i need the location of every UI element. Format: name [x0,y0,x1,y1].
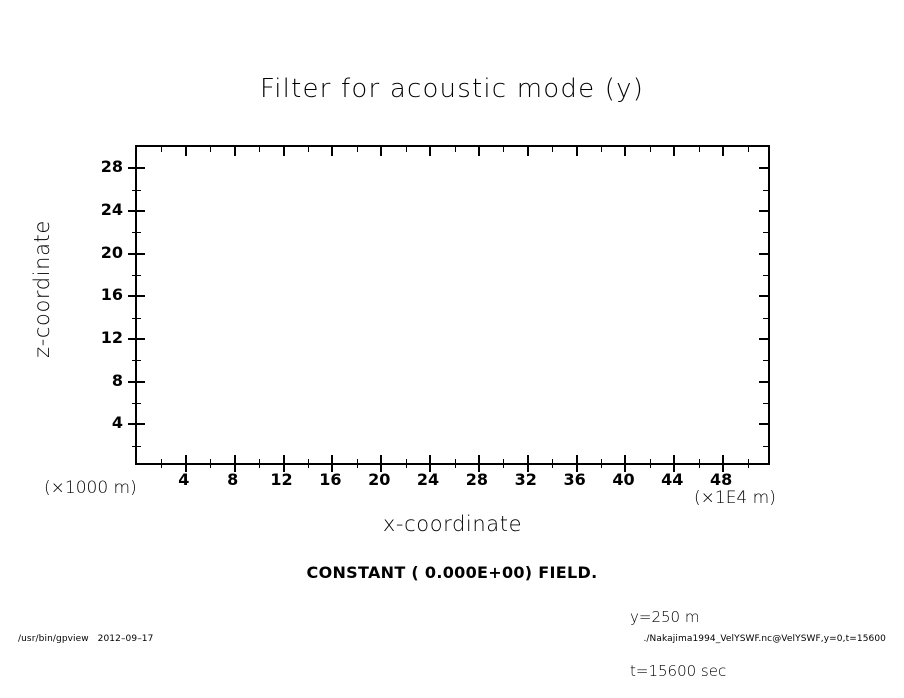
x-axis-minor-tick-inner [161,459,162,463]
x-axis-title: x-coordinate [135,512,770,536]
x-axis-top-minor-tick [601,147,602,152]
x-axis-tick-label: 36 [555,470,595,489]
x-axis-minor-tick-inner [259,459,260,463]
y-axis-major-tick [128,338,137,340]
x-axis-tick-label: 4 [164,470,204,489]
x-axis-major-tick-inner [331,455,333,463]
x-axis-minor-tick [161,463,162,468]
y-axis-minor-tick-inner [137,403,141,404]
x-axis-major-tick-inner [380,455,382,463]
x-axis-major-tick-inner [527,455,529,463]
x-axis-top-major-tick [673,147,675,156]
y-axis-major-tick [128,295,137,297]
x-axis-top-minor-tick [650,147,651,152]
y-axis-major-tick [128,423,137,425]
x-axis-top-minor-tick [699,147,700,152]
x-axis-minor-tick [699,463,700,468]
y-axis-tick-label: 16 [83,285,123,304]
x-axis-major-tick-inner [576,455,578,463]
x-axis-tick-label: 12 [262,470,302,489]
x-axis-minor-tick [650,463,651,468]
x-axis-top-minor-tick [406,147,407,152]
x-axis-top-major-tick [478,147,480,156]
x-axis-top-minor-tick [357,147,358,152]
y-axis-tick-label: 28 [83,157,123,176]
x-axis-minor-tick [552,463,553,468]
x-axis-minor-tick-inner [406,459,407,463]
x-axis-top-minor-tick [308,147,309,152]
y-axis-minor-tick-inner [137,275,141,276]
x-axis-major-tick-inner [673,455,675,463]
x-axis-top-major-tick [527,147,529,156]
x-axis-minor-tick-inner [552,459,553,463]
y-axis-right-minor-tick [763,190,768,191]
y-axis-right-minor-tick [763,232,768,233]
y-axis-major-tick-inner [137,423,145,425]
x-axis-minor-tick [601,463,602,468]
x-axis-tick-label: 48 [701,470,741,489]
x-axis-minor-tick [455,463,456,468]
x-axis-major-tick-inner [722,455,724,463]
x-axis-tick-label: 28 [457,470,497,489]
x-axis-minor-tick [308,463,309,468]
slice-y-label: y=250 m [630,608,726,626]
y-axis-tick-label: 12 [83,328,123,347]
x-axis-minor-tick [748,463,749,468]
x-axis-major-tick-inner [624,455,626,463]
y-axis-right-minor-tick [763,318,768,319]
y-axis-right-minor-tick [763,446,768,447]
plot-area [135,145,770,465]
x-axis-tick-label: 8 [213,470,253,489]
y-axis-major-tick [128,210,137,212]
x-axis-tick-label: 16 [310,470,350,489]
y-axis-major-tick [128,167,137,169]
x-axis-minor-tick-inner [503,459,504,463]
x-axis-minor-tick [259,463,260,468]
x-axis-tick-label: 32 [506,470,546,489]
y-axis-major-tick-inner [137,338,145,340]
x-axis-major-tick-inner [185,455,187,463]
x-axis-minor-tick-inner [210,459,211,463]
y-axis-major-tick [128,253,137,255]
x-axis-tick-label: 40 [603,470,643,489]
x-axis-minor-tick-inner [601,459,602,463]
x-axis-top-major-tick [624,147,626,156]
y-axis-right-major-tick [759,338,768,340]
y-axis-major-tick-inner [137,381,145,383]
y-axis-tick-label: 24 [83,200,123,219]
y-axis-right-major-tick [759,423,768,425]
y-axis-unit-label: (×1000 m) [44,478,137,498]
page-title: Filter for acoustic mode (y) [0,74,904,104]
y-axis-minor-tick-inner [137,232,141,233]
y-axis-minor-tick-inner [137,190,141,191]
x-axis-minor-tick-inner [748,459,749,463]
x-axis-top-major-tick [331,147,333,156]
y-axis-minor-tick-inner [137,360,141,361]
x-axis-tick-label: 24 [408,470,448,489]
x-axis-minor-tick [406,463,407,468]
y-axis-right-major-tick [759,210,768,212]
x-axis-top-major-tick [185,147,187,156]
x-axis-major-tick-inner [283,455,285,463]
x-axis-tick-label: 44 [652,470,692,489]
y-axis-major-tick-inner [137,210,145,212]
y-axis-right-minor-tick [763,275,768,276]
x-axis-major-tick-inner [234,455,236,463]
y-axis-major-tick-inner [137,167,145,169]
y-axis-tick-label: 4 [83,413,123,432]
x-axis-minor-tick-inner [699,459,700,463]
y-axis-right-minor-tick [763,403,768,404]
x-axis-top-minor-tick [259,147,260,152]
y-axis-title: z-coordinate [30,189,54,389]
y-axis-minor-tick-inner [137,318,141,319]
x-axis-minor-tick [210,463,211,468]
x-axis-major-tick-inner [429,455,431,463]
x-axis-minor-tick [503,463,504,468]
y-axis-major-tick-inner [137,253,145,255]
x-axis-unit-label: (×1E4 m) [694,488,776,508]
slice-time-label: t=15600 sec [630,662,726,680]
x-axis-minor-tick-inner [650,459,651,463]
y-axis-tick-label: 20 [83,243,123,262]
y-axis-tick-label: 8 [83,371,123,390]
y-axis-major-tick-inner [137,295,145,297]
x-axis-top-major-tick [283,147,285,156]
x-axis-top-major-tick [722,147,724,156]
x-axis-minor-tick-inner [455,459,456,463]
x-axis-top-major-tick [429,147,431,156]
x-axis-major-tick-inner [478,455,480,463]
footer-command-date: /usr/bin/gpview 2012–09–17 [18,634,153,644]
x-axis-top-minor-tick [748,147,749,152]
x-axis-top-minor-tick [210,147,211,152]
y-axis-right-major-tick [759,295,768,297]
x-axis-top-major-tick [234,147,236,156]
x-axis-top-minor-tick [552,147,553,152]
x-axis-tick-label: 20 [359,470,399,489]
x-axis-minor-tick-inner [308,459,309,463]
constant-field-message: CONSTANT ( 0.000E+00) FIELD. [0,563,904,582]
y-axis-right-major-tick [759,167,768,169]
y-axis-major-tick [128,381,137,383]
y-axis-right-minor-tick [763,360,768,361]
x-axis-top-minor-tick [503,147,504,152]
x-axis-minor-tick-inner [357,459,358,463]
x-axis-minor-tick [357,463,358,468]
x-axis-top-minor-tick [161,147,162,152]
x-axis-top-major-tick [380,147,382,156]
y-axis-right-major-tick [759,381,768,383]
y-axis-right-major-tick [759,253,768,255]
x-axis-top-minor-tick [455,147,456,152]
x-axis-top-major-tick [576,147,578,156]
footer-datasource: ./Nakajima1994_VelYSWF.nc@VelYSWF,y=0,t=… [643,634,886,644]
y-axis-minor-tick-inner [137,446,141,447]
